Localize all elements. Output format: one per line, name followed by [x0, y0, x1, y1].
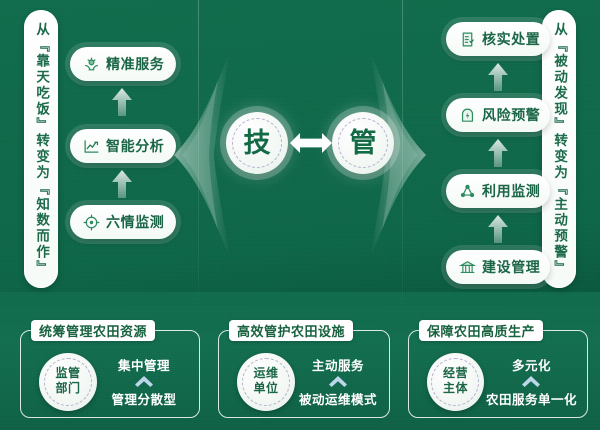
infographic-canvas: 从『靠天吃饭』转变为『知数而作』 从『被动发现』转变为『主动预警』 精准服务	[0, 0, 600, 430]
target-state-text: 主动服务	[312, 355, 364, 374]
card-construction-management[interactable]: 建设管理	[446, 250, 550, 284]
transition-block: 多元化 农田服务单一化	[486, 355, 577, 408]
role-line-1: 监管	[55, 367, 80, 381]
card-label: 六情监测	[106, 212, 164, 232]
double-headed-arrow-icon	[288, 130, 334, 156]
card-precision-service[interactable]: 精准服务	[70, 47, 176, 81]
card-label: 建设管理	[482, 257, 540, 277]
card-verification-disposal[interactable]: 核实处置	[446, 22, 550, 56]
role-circle-operations-unit: 运维 单位	[237, 353, 295, 411]
left-transformation-banner: 从『靠天吃饭』转变为『知数而作』	[24, 10, 58, 288]
panel-body: 运维 单位 主动服务 被动运维模式	[219, 344, 389, 419]
clipboard-check-icon	[459, 31, 476, 48]
card-label: 利用监测	[482, 181, 540, 201]
card-utilization-monitoring[interactable]: 利用监测	[446, 174, 550, 208]
dashed-ring: 运维 单位	[242, 358, 290, 406]
up-arrow-icon	[110, 169, 134, 199]
card-label: 智能分析	[106, 136, 164, 156]
role-circle-supervision-dept: 监管 部门	[39, 353, 97, 411]
role-line-1: 经营	[443, 367, 468, 381]
bottom-panel-high-quality-production: 保障农田高质生产 经营 主体 多元化 农田服务单一化	[408, 330, 588, 418]
chevron-up-icon	[328, 375, 348, 388]
bottom-panel-farmland-resources: 统筹管理农田资源 监管 部门 集中管理 管理分散型	[20, 330, 200, 418]
panel-title-text: 统筹管理农田资源	[39, 321, 147, 340]
bottom-panel-farmland-facilities: 高效管护农田设施 运维 单位 主动服务 被动运维模式	[218, 330, 390, 418]
manage-circle: 管	[332, 112, 394, 174]
panel-title-badge: 统筹管理农田资源	[31, 320, 155, 341]
panel-title-text: 保障农田高质生产	[427, 321, 535, 340]
warning-bolt-icon	[459, 107, 476, 124]
role-circle-business-entity: 经营 主体	[427, 353, 484, 411]
tech-circle: 技	[226, 112, 288, 174]
role-line-2: 主体	[443, 382, 468, 396]
target-state-text: 多元化	[512, 355, 551, 374]
card-intelligent-analysis[interactable]: 智能分析	[70, 129, 176, 163]
card-six-condition-monitoring[interactable]: 六情监测	[70, 205, 176, 239]
radar-target-icon	[83, 214, 100, 231]
transition-block: 集中管理 管理分散型	[99, 355, 189, 408]
role-line-2: 部门	[55, 382, 80, 396]
panel-title-badge: 高效管护农田设施	[229, 320, 353, 341]
panel-title-text: 高效管护农田设施	[237, 321, 345, 340]
card-label: 精准服务	[106, 54, 164, 74]
role-line-2: 单位	[253, 382, 278, 396]
up-arrow-icon	[486, 214, 510, 244]
panel-body: 监管 部门 集中管理 管理分散型	[21, 344, 199, 419]
chevron-up-icon	[134, 375, 154, 388]
left-banner-text: 从『靠天吃饭』转变为『知数而作』	[34, 22, 48, 276]
current-state-text: 被动运维模式	[299, 389, 377, 408]
up-arrow-icon	[486, 62, 510, 92]
hands-plant-icon	[83, 56, 100, 73]
card-risk-warning[interactable]: 风险预警	[446, 98, 550, 132]
card-label: 核实处置	[482, 29, 540, 49]
up-arrow-icon	[110, 87, 134, 117]
current-state-text: 管理分散型	[111, 389, 176, 408]
right-transformation-banner: 从『被动发现』转变为『主动预警』	[542, 10, 576, 288]
dashed-ring: 管	[338, 118, 388, 168]
right-banner-text: 从『被动发现』转变为『主动预警』	[552, 22, 566, 276]
current-state-text: 农田服务单一化	[486, 389, 577, 408]
chevron-up-icon	[521, 375, 541, 388]
tech-glyph: 技	[244, 130, 271, 157]
dashed-ring: 经营 主体	[431, 358, 479, 406]
role-line-1: 运维	[253, 367, 278, 381]
recycle-nodes-icon	[459, 183, 476, 200]
panel-body: 经营 主体 多元化 农田服务单一化	[409, 344, 587, 419]
dashed-ring: 技	[232, 118, 282, 168]
line-chart-icon	[83, 138, 100, 155]
target-state-text: 集中管理	[118, 355, 170, 374]
dashed-ring: 监管 部门	[44, 358, 92, 406]
bank-building-icon	[459, 259, 476, 276]
manage-glyph: 管	[350, 130, 377, 157]
card-label: 风险预警	[482, 105, 540, 125]
up-arrow-icon	[486, 138, 510, 168]
panel-title-badge: 保障农田高质生产	[419, 320, 543, 341]
transition-block: 主动服务 被动运维模式	[297, 355, 379, 408]
